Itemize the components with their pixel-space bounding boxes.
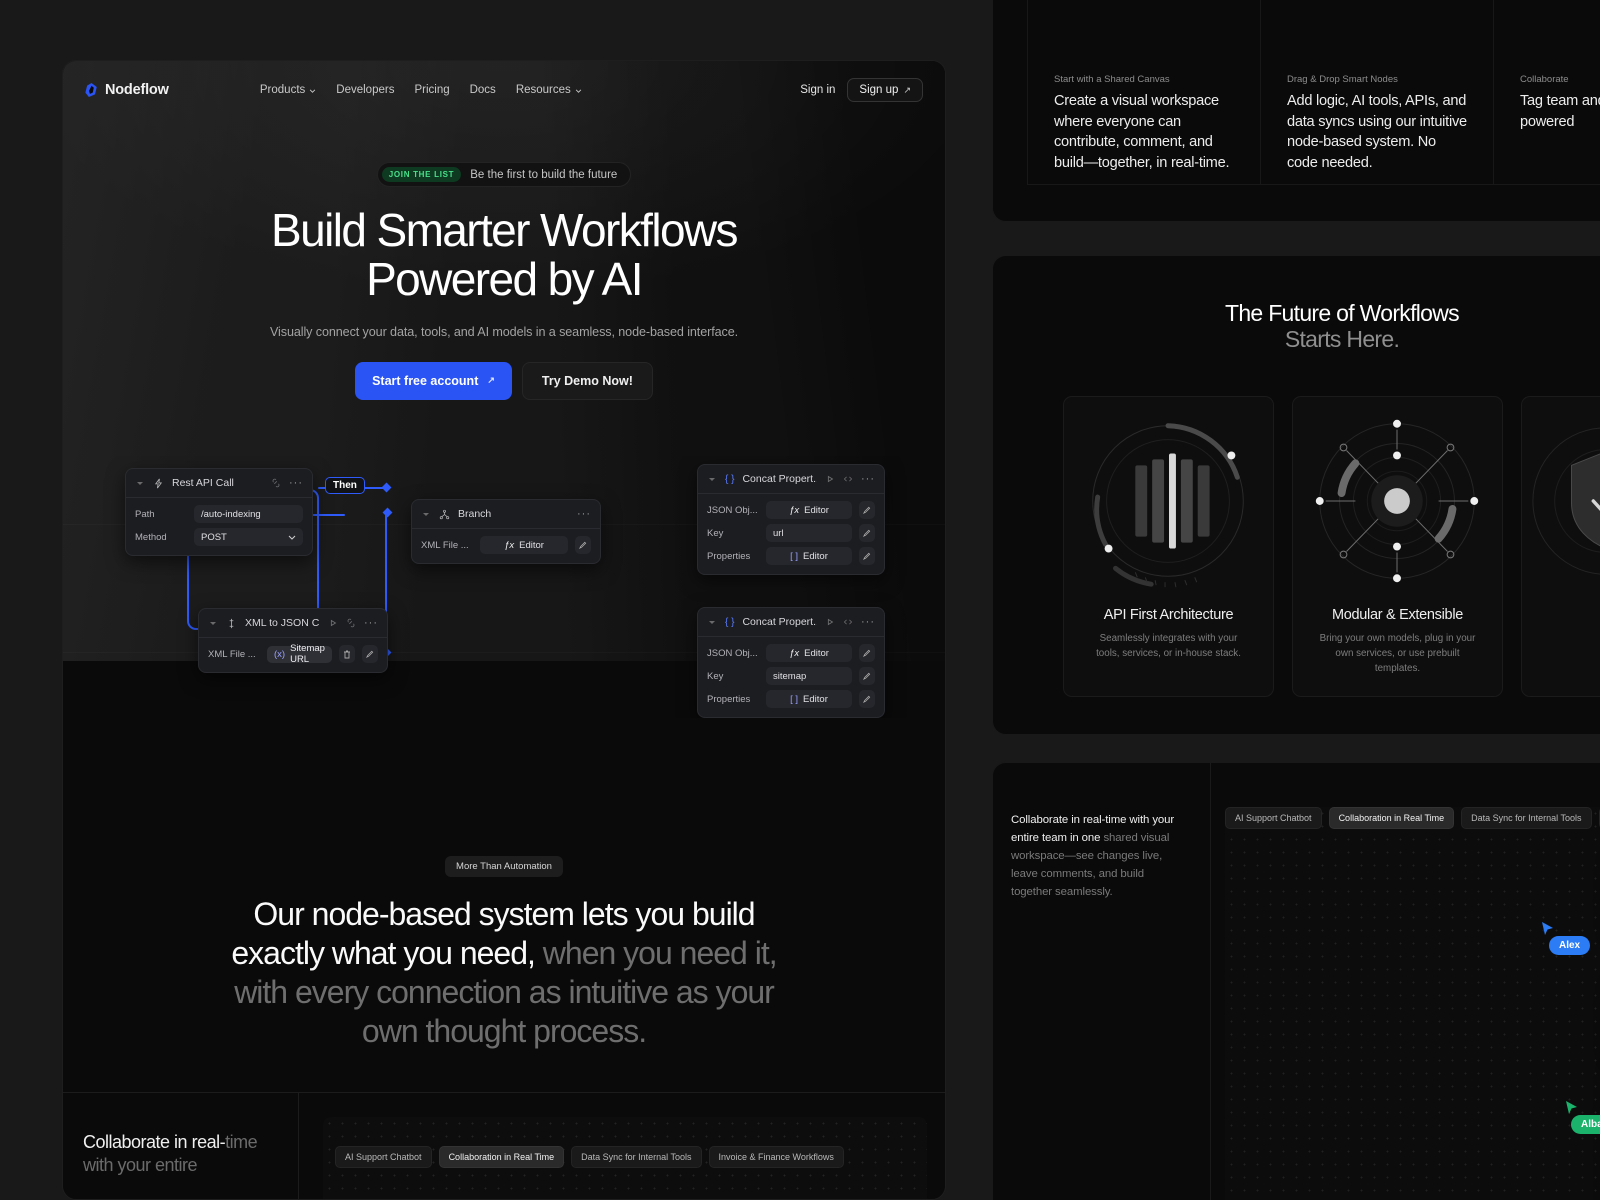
node-field-row: JSON Obj... ƒx Editor [707,501,875,519]
chevron-down-icon[interactable] [135,478,145,488]
future-title: The Future of Workflows Starts Here. [993,301,1600,353]
node-header[interactable]: Rest API Call ··· [126,469,312,498]
editor-button[interactable]: ƒx Editor [766,501,852,519]
automation-headline: Our node-based system lets you build exa… [63,895,945,1051]
preview-canvas [1225,807,1600,1200]
brackets-icon: [ ] [790,551,798,562]
node-field-row: Path /auto-indexing [135,505,303,523]
arrow-up-right-icon: ↗ [487,375,495,386]
field-label: Properties [707,551,759,562]
headline-line2a: exactly what you need, [231,935,535,971]
node-body: JSON Obj... ƒx Editor Key sitemap Proper [698,637,884,717]
hero-subtitle: Visually connect your data, tools, and A… [63,325,945,339]
branch-icon [439,509,450,520]
collaborate-text-hl: Collaborate in real- [83,1132,225,1152]
tab-data-sync[interactable]: Data Sync for Internal Tools [571,1146,701,1168]
braces-icon: { } [725,617,734,628]
node-header[interactable]: Branch ··· [412,500,600,529]
edit-icon[interactable] [859,501,875,519]
step-kicker: Collaborate [1520,74,1569,85]
code-icon[interactable] [843,617,853,627]
step-body: Add logic, AI tools, APIs, and data sync… [1287,91,1469,174]
edit-icon[interactable] [859,690,875,708]
node-body: JSON Obj... ƒx Editor Key url Properties [698,494,884,574]
method-value: POST [201,532,283,543]
more-options-icon[interactable]: ··· [577,508,591,520]
node-field-row: Key url [707,524,875,542]
preview-tabs: AI Support Chatbot Collaboration in Real… [323,1121,945,1168]
more-options-icon[interactable]: ··· [364,617,378,629]
chevron-down-icon[interactable] [208,618,218,628]
hero-title-line1: Build Smarter Workflows [271,204,737,256]
node-title: Concat Propert... [742,473,817,485]
transform-icon [226,618,237,629]
chevron-down-icon[interactable] [707,617,717,627]
node-field-row: Method POST [135,528,303,546]
edge-label-then: Then [325,477,365,494]
delete-icon[interactable] [339,645,355,663]
start-free-account-label: Start free account [372,374,478,388]
step-body: Tag team and co-e flows lik powered [1520,91,1600,132]
field-label: XML File ... [208,649,260,660]
page-root: Nodeflow Products Developers Pricing Doc… [0,0,1600,1200]
landing-page-panel: Nodeflow Products Developers Pricing Doc… [62,60,946,1200]
waitlist-badge[interactable]: JOIN THE LIST Be the first to build the … [377,162,632,187]
node-body: Path /auto-indexing Method POST [126,498,312,555]
editor-button[interactable]: ƒx Editor [480,536,568,554]
collaboration-copy: Collaborate in real-time with your entir… [993,763,1211,1200]
play-icon[interactable] [825,617,835,627]
node-field-row: Properties [ ] Editor [707,547,875,565]
tab-invoice-finance[interactable]: Invoice & Finance Workflows [709,1146,844,1168]
field-label: Path [135,509,187,520]
preview-tabs: AI Support Chatbot Collaboration in Real… [1225,807,1600,829]
node-rest-api-call[interactable]: Rest API Call ··· Path /auto-indexing Me… [125,468,313,556]
play-icon[interactable] [328,618,338,628]
cursor-pointer-icon [1565,1100,1579,1116]
editor-label: Editor [519,540,544,551]
node-field-row: Properties [ ] Editor [707,690,875,708]
steps-panel: Start with a Shared Canvas Create a visu… [992,0,1600,222]
method-select[interactable]: POST [194,528,303,546]
barcode-orb-art [1064,397,1273,605]
chip-label: Sitemap URL [290,643,325,665]
hero-title-line2: Powered by AI [366,253,642,305]
brackets-icon: [ ] [790,694,798,705]
headline-line3: with every connection as intuitive as yo… [234,974,774,1010]
chevron-down-icon[interactable] [707,474,717,484]
feature-card-modular[interactable]: Modular & Extensible Bring your own mode… [1292,396,1503,698]
try-demo-button[interactable]: Try Demo Now! [522,362,653,400]
link-icon[interactable] [346,618,356,628]
steps-cards: Start with a Shared Canvas Create a visu… [1027,0,1600,185]
collaborate-preview: AI Support Chatbot Collaboration in Real… [299,1093,945,1200]
step-body: Create a visual workspace where everyone… [1054,91,1236,174]
code-icon[interactable] [843,474,853,484]
collaboration-inner: Collaborate in real-time with your entir… [993,763,1600,1200]
step-kicker: Start with a Shared Canvas [1054,74,1170,85]
more-options-icon[interactable]: ··· [861,473,875,485]
edit-icon[interactable] [859,524,875,542]
hero-section: JOIN THE LIST Be the first to build the … [63,61,945,400]
cursor-pointer-icon [1541,921,1555,937]
feature-title: Enterp [1522,607,1600,623]
node-field-row: JSON Obj... ƒx Editor [707,644,875,662]
tab-ai-support-chatbot[interactable]: AI Support Chatbot [335,1146,432,1168]
headline-line1: Our node-based system lets you build [253,896,754,932]
node-title: Branch [458,508,569,520]
properties-editor-button[interactable]: [ ] Editor [766,690,852,708]
collaboration-canvas-area[interactable]: AI Support Chatbot Collaboration in Real… [1211,763,1600,1200]
more-options-icon[interactable]: ··· [289,477,303,489]
page-title: Build Smarter Workflows Powered by AI [63,206,945,304]
edit-icon[interactable] [859,547,875,565]
hero-cta-group: Start free account ↗ Try Demo Now! [63,362,945,400]
tab-collaboration-in-real-time[interactable]: Collaboration in Real Time [439,1146,565,1168]
chevron-down-icon [288,535,296,540]
cursor-badge-alex: Alex [1549,936,1590,955]
key-input[interactable]: url [766,524,852,542]
play-icon[interactable] [825,474,835,484]
more-options-icon[interactable]: ··· [861,616,875,628]
step-card: Start with a Shared Canvas Create a visu… [1027,0,1260,185]
tab-data-sync[interactable]: Data Sync for Internal Tools [1461,807,1591,829]
future-cards: API First Architecture Seamlessly integr… [993,396,1600,698]
future-of-workflows-panel: The Future of Workflows Starts Here. [992,255,1600,735]
node-title: Concat Propert... [742,616,817,628]
field-label: JSON Obj... [707,648,759,659]
feature-title: API First Architecture [1064,607,1273,623]
future-title-line2: Starts Here. [1285,326,1399,352]
node-body: XML File ... ƒx Editor [412,529,600,563]
collaboration-panel: Collaborate in real-time with your entir… [992,762,1600,1200]
node-branch[interactable]: Branch ··· XML File ... ƒx Editor [411,499,601,564]
step-card: Collaborate Tag team and co-e flows lik … [1493,0,1600,185]
headline-line4: own thought process. [362,1013,646,1049]
node-title: Rest API Call [172,477,263,489]
node-body: XML File ... (x) Sitemap URL [199,638,387,672]
feature-body: SOC 2 com [1522,631,1600,646]
step-kicker: Drag & Drop Smart Nodes [1287,74,1398,85]
variable-icon: (x) [274,649,285,660]
feature-card-enterprise[interactable]: Enterp SOC 2 com [1521,396,1600,698]
radial-orb-art [1293,397,1502,605]
workflow-canvas[interactable]: Then Else Rest API Call ··· Path /auto-i… [63,456,946,718]
edit-icon[interactable] [575,536,591,554]
node-xml-to-json[interactable]: XML to JSON C... ··· XML File ... (x) Si… [198,608,388,673]
editor-label: Editor [803,551,828,562]
field-label: Key [707,671,759,682]
field-label: JSON Obj... [707,505,759,516]
start-free-account-button[interactable]: Start free account ↗ [355,362,512,400]
field-label: Key [707,528,759,539]
editor-label: Editor [803,694,828,705]
badge-text: Be the first to build the future [470,169,617,181]
sitemap-url-chip[interactable]: (x) Sitemap URL [267,646,332,663]
node-header[interactable]: { } Concat Propert... ··· [698,608,884,637]
field-label: XML File ... [421,540,473,551]
feature-title: Modular & Extensible [1293,607,1502,623]
field-label: Properties [707,694,759,705]
edit-icon[interactable] [859,667,875,685]
edit-icon[interactable] [859,644,875,662]
section-chip: More Than Automation [445,856,563,877]
node-field-row: XML File ... (x) Sitemap URL [208,645,378,663]
fx-icon: ƒx [504,540,514,551]
step-card: Drag & Drop Smart Nodes Add logic, AI to… [1260,0,1493,185]
feature-body: Seamlessly integrates with your tools, s… [1064,631,1273,661]
node-header[interactable]: XML to JSON C... ··· [199,609,387,638]
fx-icon: ƒx [789,505,799,516]
key-input[interactable]: sitemap [766,667,852,685]
collaborate-section-bottom: Collaborate in real-time with your entir… [63,1092,945,1200]
braces-icon: { } [725,474,734,485]
node-concat-else[interactable]: { } Concat Propert... ··· JSON Obj... ƒx… [697,607,885,718]
path-input[interactable]: /auto-indexing [194,505,303,523]
future-title-line1: The Future of Workflows [1225,300,1459,326]
node-field-row: Key sitemap [707,667,875,685]
feature-body: Bring your own models, plug in your own … [1293,631,1502,677]
editor-label: Editor [804,505,829,516]
feature-card-api-first[interactable]: API First Architecture Seamlessly integr… [1063,396,1274,698]
tab-ai-support-chatbot[interactable]: AI Support Chatbot [1225,807,1322,829]
cursor-badge-alba: Alba [1571,1115,1600,1134]
editor-button[interactable]: ƒx Editor [766,644,852,662]
tab-collaboration-in-real-time[interactable]: Collaboration in Real Time [1329,807,1455,829]
node-field-row: XML File ... ƒx Editor [421,536,591,554]
headline-line2b: when you need it, [535,935,777,971]
node-header[interactable]: { } Concat Propert... ··· [698,465,884,494]
node-title: XML to JSON C... [245,617,320,629]
properties-editor-button[interactable]: [ ] Editor [766,547,852,565]
link-icon[interactable] [271,478,281,488]
edit-icon[interactable] [362,645,378,663]
field-label: Method [135,532,187,543]
automation-section: More Than Automation Our node-based syst… [63,856,945,1051]
bolt-icon [153,478,164,489]
collaborate-copy: Collaborate in real-time with your entir… [63,1093,299,1200]
editor-label: Editor [804,648,829,659]
shield-orb-art [1522,397,1600,605]
node-concat-then[interactable]: { } Concat Propert... ··· JSON Obj... ƒx… [697,464,885,575]
chevron-down-icon[interactable] [421,509,431,519]
fx-icon: ƒx [789,648,799,659]
badge-tag: JOIN THE LIST [382,167,462,182]
